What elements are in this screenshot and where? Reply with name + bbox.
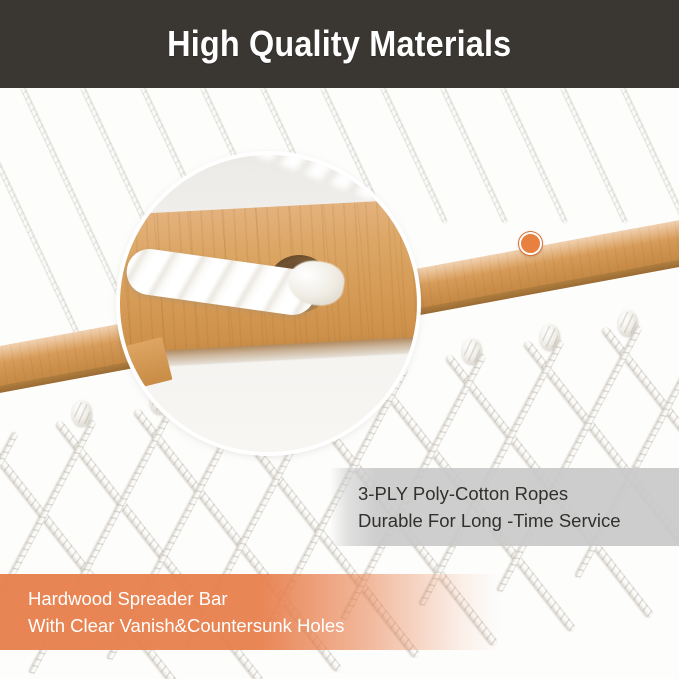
page-title: High Quality Materials	[167, 23, 511, 65]
rope-callout-line-1: 3-PLY Poly-Cotton Ropes	[358, 483, 679, 504]
magnifier-content	[120, 155, 417, 452]
zoom-source-marker	[519, 232, 542, 255]
spreader-bar-callout: Hardwood Spreader Bar With Clear Vanish&…	[0, 574, 500, 650]
product-feature-image: High Quality Materials 3-PLY Poly-Cotton…	[0, 0, 679, 679]
spreader-bar-callout-line-1: Hardwood Spreader Bar	[28, 588, 500, 609]
detail-magnifier	[120, 155, 417, 452]
spreader-bar-callout-line-2: With Clear Vanish&Countersunk Holes	[28, 615, 500, 636]
header-banner: High Quality Materials	[0, 0, 679, 88]
rope-callout-line-2: Durable For Long -Time Service	[358, 510, 679, 531]
rope-callout: 3-PLY Poly-Cotton Ropes Durable For Long…	[330, 468, 679, 546]
